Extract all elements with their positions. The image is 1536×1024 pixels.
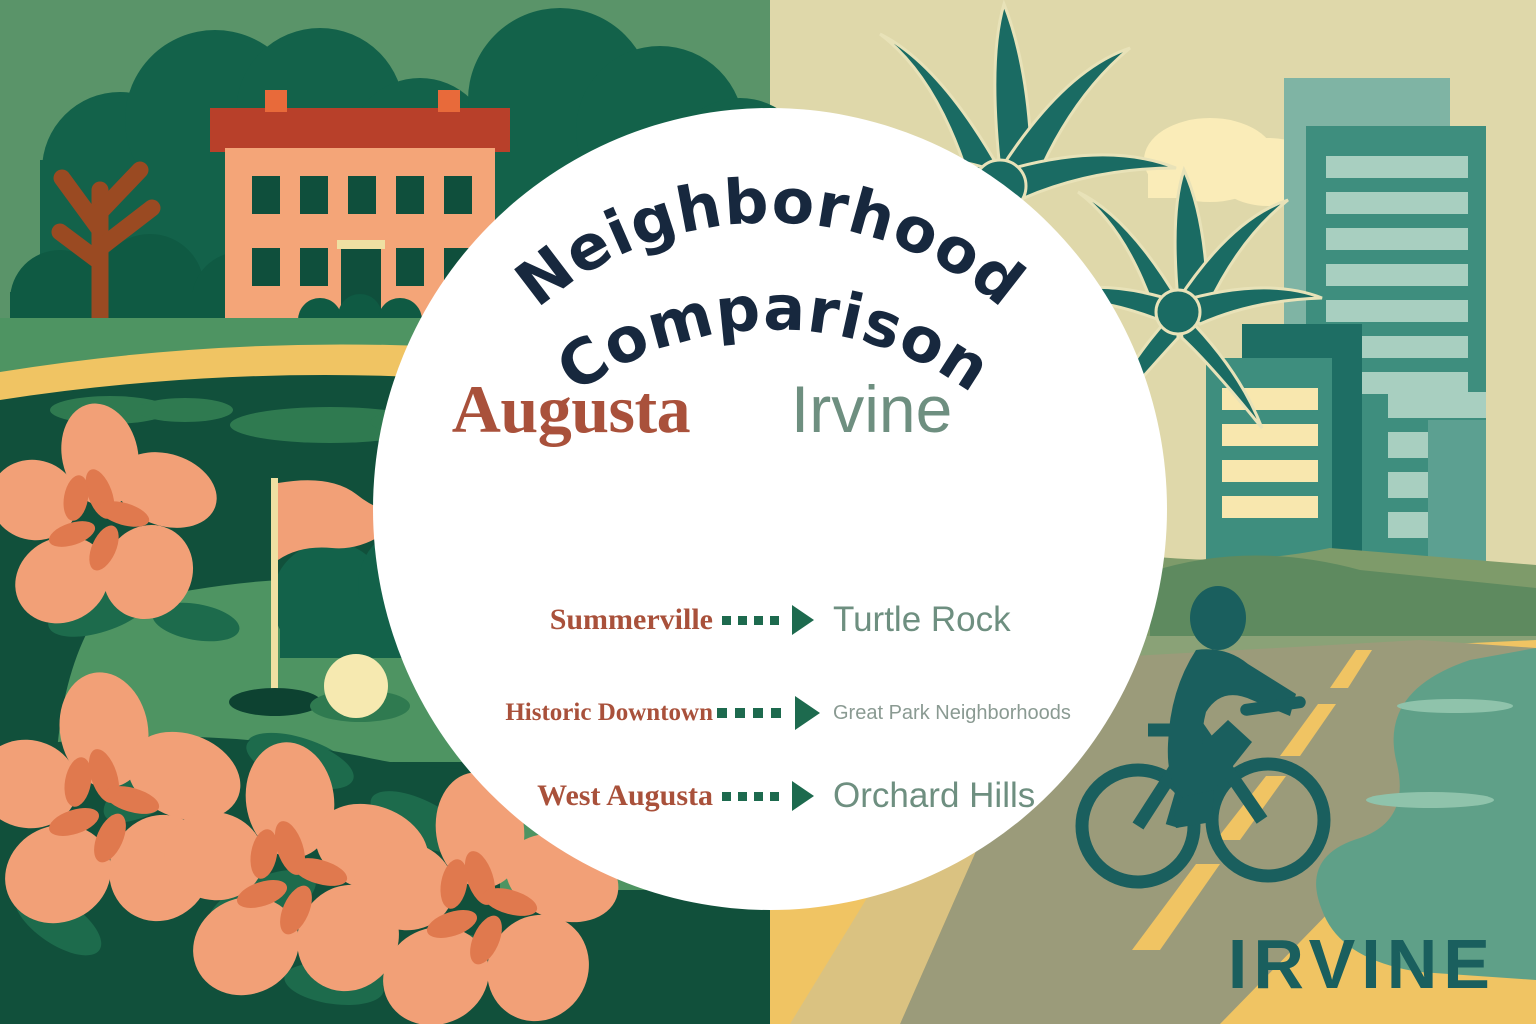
dashed-line-icon xyxy=(717,708,789,718)
comparison-row[interactable]: Summerville Turtle Rock xyxy=(373,600,1167,640)
neighborhood-right: Orchard Hills xyxy=(823,776,1167,816)
connector-arrow xyxy=(713,781,823,811)
connector-arrow xyxy=(713,696,823,730)
infographic-card: Neighborhood Comparison Augusta Irvine S… xyxy=(0,0,1536,1024)
panel-content: Augusta Irvine Summerville Turtle Rock H… xyxy=(373,108,1167,910)
neighborhood-left: Summerville xyxy=(373,603,713,637)
neighborhood-left: Historic Downtown xyxy=(373,699,713,727)
neighborhood-left: West Augusta xyxy=(373,779,713,813)
comparison-row[interactable]: Historic Downtown Great Park Neighborhoo… xyxy=(373,696,1167,730)
arrow-right-icon xyxy=(795,696,820,730)
city-headings: Augusta Irvine xyxy=(373,370,1167,449)
irvine-wordmark: IRVINE xyxy=(1228,924,1496,1004)
city-name-right[interactable]: Irvine xyxy=(769,371,1167,447)
neighborhood-right: Great Park Neighborhoods xyxy=(823,702,1167,725)
arrow-right-icon xyxy=(792,781,814,811)
dashed-line-icon xyxy=(722,616,786,625)
neighborhood-right: Turtle Rock xyxy=(823,600,1167,640)
golf-hole xyxy=(229,688,321,716)
arrow-right-icon xyxy=(792,605,814,635)
city-name-left[interactable]: Augusta xyxy=(373,370,769,449)
comparison-row[interactable]: West Augusta Orchard Hills xyxy=(373,776,1167,816)
dashed-line-icon xyxy=(722,792,786,801)
connector-arrow xyxy=(713,605,823,635)
